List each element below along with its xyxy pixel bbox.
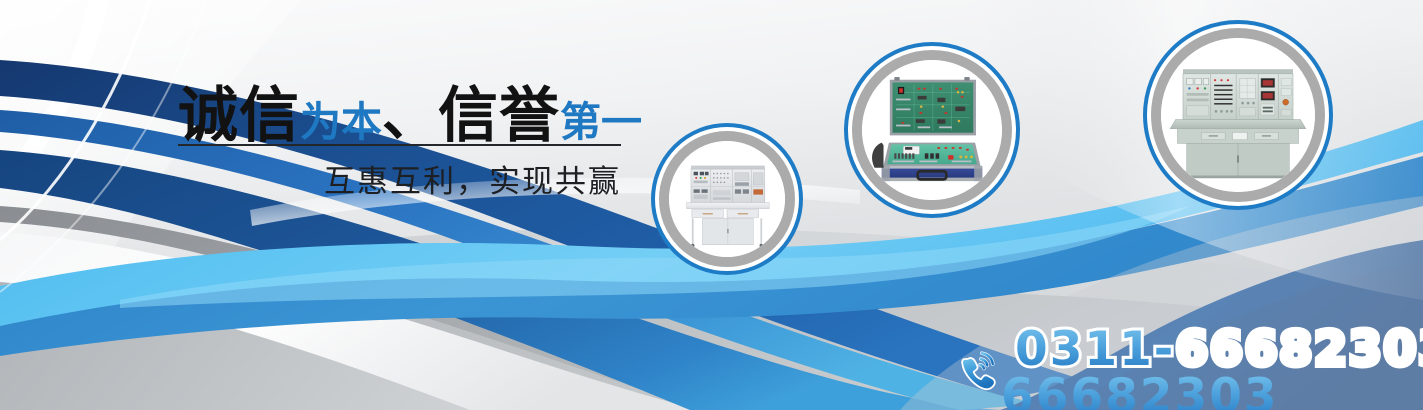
promo-banner: 诚信为本、信誉第一 互惠互利，实现共赢 xyxy=(0,0,1423,410)
contact-phone-block[interactable]: 0311-66682303 0311-66682303 xyxy=(955,326,1423,410)
headline: 诚信为本、信誉第一 xyxy=(178,72,638,146)
subtitle: 互惠互利，实现共赢 xyxy=(178,156,621,201)
circle-inner-ring-3 xyxy=(1151,28,1325,202)
headline-divider xyxy=(178,144,621,146)
product-photo-circle-1[interactable] xyxy=(651,123,803,275)
product-image-electrical-test-bench xyxy=(1161,38,1315,192)
product-photo-circle-3[interactable] xyxy=(1143,20,1333,210)
phone-call-icon xyxy=(955,350,1001,396)
circle-inner-ring-2 xyxy=(852,50,1012,210)
headline-block: 诚信为本、信誉第一 xyxy=(178,72,638,146)
product-photo-circle-2[interactable] xyxy=(844,42,1020,218)
headline-part1-dark: 诚信 xyxy=(178,86,300,146)
phone-number[interactable]: 0311-66682303 xyxy=(1001,322,1279,410)
product-image-electrical-training-workbench xyxy=(669,141,785,257)
circle-inner-ring-1 xyxy=(659,131,795,267)
headline-part2-blue: 第一 xyxy=(560,102,642,143)
headline-part1-blue: 为本 xyxy=(300,102,382,143)
headline-part2-dark: 信誉 xyxy=(438,86,560,146)
product-image-portable-electronics-training-case xyxy=(862,60,1002,200)
headline-separator: 、 xyxy=(382,89,438,145)
